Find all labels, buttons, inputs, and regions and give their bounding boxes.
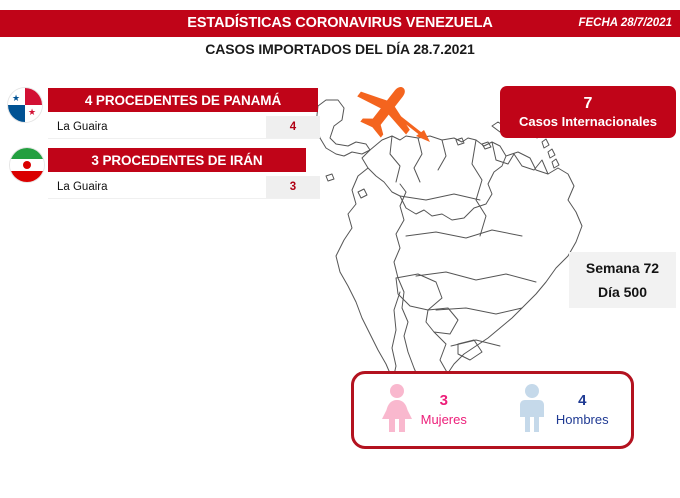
airplane-icon [352,82,462,148]
infographic-root: ESTADÍSTICAS CORONAVIRUS VENEZUELA FECHA… [0,0,680,498]
table-row: La Guaira 4 [48,116,320,138]
state-name: La Guaira [48,116,266,138]
state-name: La Guaira [48,176,266,198]
gender-cell-male: 4 Hombres [493,383,632,438]
period-box: Semana 72 Día 500 [569,252,676,308]
female-icon [380,383,414,438]
international-cases-label: Casos Internacionales [519,113,657,130]
state-count: 3 [266,176,320,198]
period-day: Día 500 [598,280,647,304]
period-week: Semana 72 [586,256,659,280]
male-count: 4 [578,391,586,410]
international-cases-box: 7 Casos Internacionales [500,86,676,138]
table-row: La Guaira 3 [48,176,320,198]
international-cases-number: 7 [584,95,593,113]
gender-breakdown-box: 3 Mujeres 4 Hombres [351,371,634,449]
header-bar: ESTADÍSTICAS CORONAVIRUS VENEZUELA FECHA… [0,10,680,37]
iran-flag-icon [10,148,44,182]
page-subtitle: CASOS IMPORTADOS DEL DÍA 28.7.2021 [0,41,680,57]
panama-flag-icon: ★ ★ [8,88,42,122]
female-count: 3 [440,391,448,410]
header-date: FECHA 28/7/2021 [578,10,672,37]
male-label: Hombres [556,410,609,429]
state-count: 4 [266,116,320,138]
country-banner-iran: 3 PROCEDENTES DE IRÁN [48,148,306,172]
female-label: Mujeres [421,410,467,429]
male-icon [515,383,549,438]
country-banner-panama: 4 PROCEDENTES DE PANAMÁ [48,88,318,112]
gender-cell-female: 3 Mujeres [354,383,493,438]
